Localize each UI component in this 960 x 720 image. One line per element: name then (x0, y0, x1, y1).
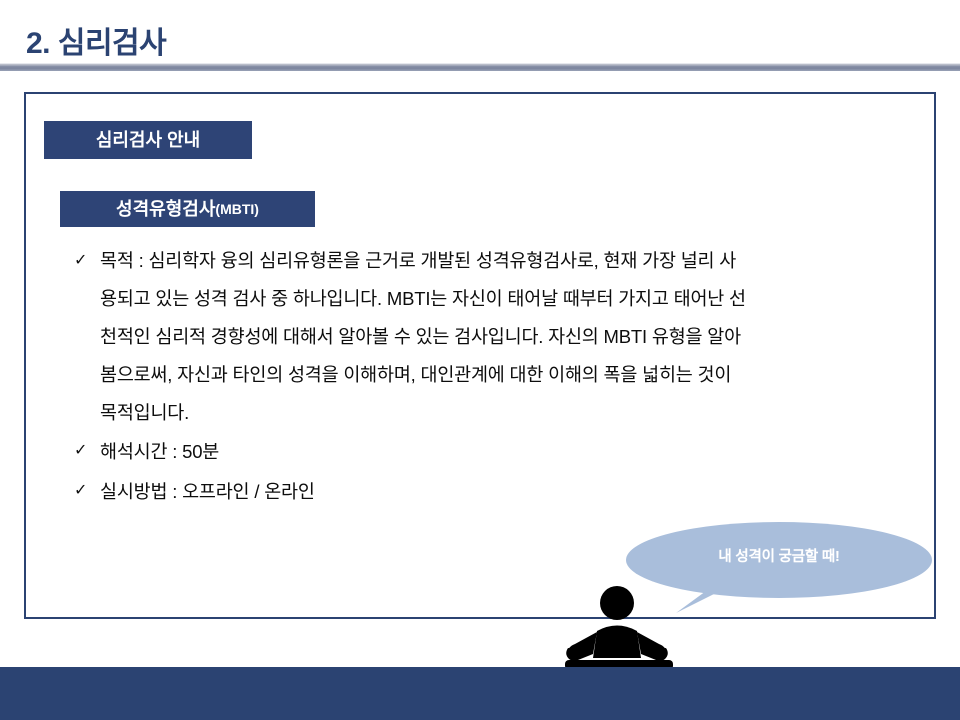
speech-bubble-text: 내 성격이 궁금할 때! (624, 545, 934, 566)
checkmark-icon: ✓ (74, 242, 100, 280)
paragraph-line: 목적입니다. (100, 394, 914, 432)
section-badge-guide-label: 심리검사 안내 (96, 131, 200, 149)
paragraph-line: 해석시간 : 50분 (100, 432, 914, 472)
list-item-text: 실시방법 : 오프라인 / 온라인 (100, 472, 914, 512)
paragraph-line: 천적인 심리적 경향성에 대해서 알아볼 수 있는 검사입니다. 자신의 MBT… (100, 318, 914, 356)
list-item: ✓ 실시방법 : 오프라인 / 온라인 (74, 472, 914, 512)
content-panel: 심리검사 안내 성격유형검사(MBTI) ✓ 목적 : 심리학자 융의 심리유형… (24, 92, 936, 619)
paragraph-line: 실시방법 : 오프라인 / 온라인 (100, 472, 914, 512)
description-list: ✓ 목적 : 심리학자 융의 심리유형론을 근거로 개발된 성격유형검사로, 현… (74, 242, 914, 512)
list-item: ✓ 해석시간 : 50분 (74, 432, 914, 472)
paragraph-line: 봄으로써, 자신과 타인의 성격을 이해하며, 대인관계에 대한 이해의 폭을 … (100, 356, 914, 394)
list-item-text: 해석시간 : 50분 (100, 432, 914, 472)
section-badge-mbti-label: 성격유형검사 (116, 200, 215, 218)
checkmark-icon: ✓ (74, 472, 100, 510)
section-badge-guide: 심리검사 안내 (44, 121, 252, 159)
section-badge-mbti-code: (MBTI) (215, 202, 259, 216)
page-title: 2. 심리검사 (26, 18, 166, 62)
title-divider (0, 63, 960, 71)
paragraph-line: 목적 : 심리학자 융의 심리유형론을 근거로 개발된 성격유형검사로, 현재 … (100, 242, 914, 280)
footer-band (0, 667, 960, 720)
section-badge-mbti: 성격유형검사(MBTI) (60, 191, 315, 227)
list-item: ✓ 목적 : 심리학자 융의 심리유형론을 근거로 개발된 성격유형검사로, 현… (74, 242, 914, 432)
paragraph-line: 용되고 있는 성격 검사 중 하나입니다. MBTI는 자신이 태어날 때부터 … (100, 280, 914, 318)
checkmark-icon: ✓ (74, 432, 100, 470)
list-item-text: 목적 : 심리학자 융의 심리유형론을 근거로 개발된 성격유형검사로, 현재 … (100, 242, 914, 432)
